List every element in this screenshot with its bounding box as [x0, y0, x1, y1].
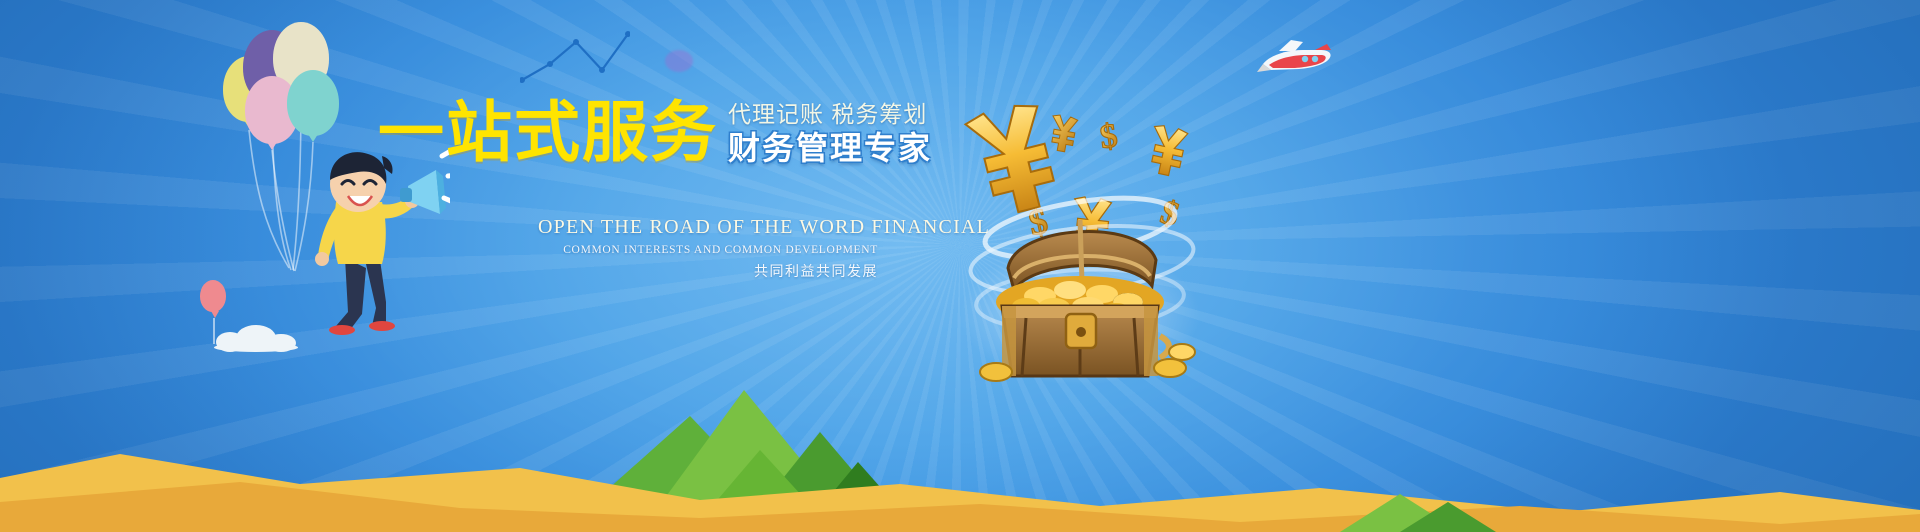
yen-symbol-small-1	[1047, 114, 1078, 153]
yen-symbol-large	[964, 101, 1061, 220]
airplane-icon	[1255, 38, 1335, 84]
promotional-banner: 一站式服务 代理记账 税务筹划 财务管理专家 OPEN THE ROAD OF …	[0, 0, 1920, 532]
subtitle-english-primary: OPEN THE ROAD OF THE WORD FINANCIAL	[538, 214, 878, 240]
headline-main: 一站式服务	[378, 96, 718, 168]
mountain-ground-illustration	[0, 342, 1920, 532]
headline-sub-top: 代理记账 税务筹划	[728, 100, 932, 128]
balloon-teal-icon	[287, 70, 339, 136]
headline-sub-bottom: 财务管理专家	[728, 128, 932, 168]
subtitle-chinese: 共同利益共同发展	[538, 260, 878, 282]
chart-line-decoration	[520, 30, 630, 85]
subtitle-block: OPEN THE ROAD OF THE WORD FINANCIAL COMM…	[538, 214, 878, 282]
boy-with-megaphone-illustration	[290, 140, 450, 340]
subtitle-english-secondary: COMMON INTERESTS AND COMMON DEVELOPMENT	[538, 240, 878, 260]
headline-block: 一站式服务 代理记账 税务筹划 财务管理专家	[378, 96, 932, 168]
purple-blob-decoration	[665, 50, 693, 72]
headline-side-block: 代理记账 税务筹划 财务管理专家	[728, 96, 932, 168]
svg-text:$: $	[1098, 117, 1120, 156]
dollar-symbol-1: $	[1098, 117, 1120, 156]
yen-symbol-small-2	[1145, 124, 1188, 178]
small-balloon-icon	[200, 280, 230, 320]
